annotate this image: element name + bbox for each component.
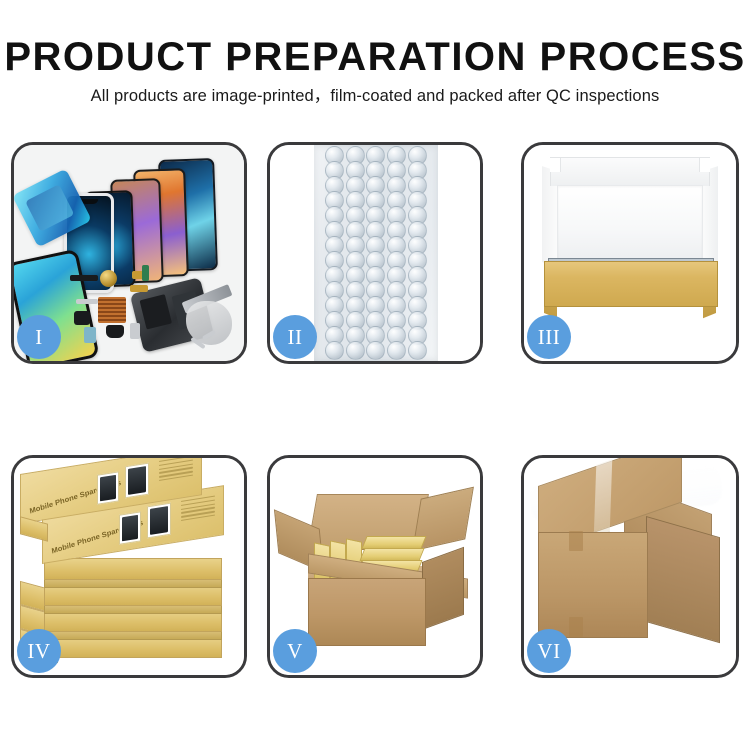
gold-connector-2-part-icon bbox=[130, 285, 148, 292]
step-badge-3: III bbox=[527, 315, 571, 359]
step-badge-1: I bbox=[17, 315, 61, 359]
step-badge-2: II bbox=[273, 315, 317, 359]
process-step-card-3[interactable]: III bbox=[521, 142, 739, 364]
bubble-grid bbox=[324, 148, 428, 358]
carton-tab-lower-icon bbox=[569, 617, 583, 637]
step-badge-4: IV bbox=[17, 629, 61, 673]
box-phone-image-a-icon bbox=[119, 511, 141, 544]
process-step-card-6[interactable]: VI bbox=[521, 455, 739, 678]
bubble-icon bbox=[387, 341, 406, 360]
box-checklist-icon bbox=[181, 496, 215, 524]
box-lid-flap-icon bbox=[550, 157, 710, 186]
carton-front-icon bbox=[538, 532, 648, 638]
carton-side-panel-icon bbox=[422, 547, 464, 630]
bubble-icon bbox=[366, 341, 385, 360]
camera-module-part-icon bbox=[74, 311, 90, 325]
flex-cable-part-icon bbox=[70, 275, 98, 281]
bubble-wrap-sheet-icon bbox=[314, 145, 438, 361]
copper-coil-icon bbox=[100, 270, 117, 287]
step-badge-6: VI bbox=[527, 629, 571, 673]
product-preparation-page: PRODUCT PREPARATION PROCESS All products… bbox=[0, 0, 750, 750]
process-step-card-5[interactable]: V bbox=[267, 455, 483, 678]
speaker-part-icon bbox=[106, 325, 124, 338]
sensor-part-icon bbox=[84, 327, 96, 343]
process-step-card-4[interactable]: Mobile Phone Spare Parts Mobile Phone Sp… bbox=[11, 455, 247, 678]
step-numeral-5: V bbox=[287, 641, 303, 662]
step-numeral-3: III bbox=[538, 327, 560, 348]
step-numeral-2: II bbox=[288, 327, 303, 348]
carton-side-icon bbox=[646, 516, 720, 643]
carton-tab-upper-icon bbox=[569, 531, 583, 551]
packing-tape-icon bbox=[594, 459, 613, 537]
stacked-box-front-icon bbox=[44, 558, 222, 580]
process-step-card-1[interactable]: I bbox=[11, 142, 247, 364]
step-numeral-4: IV bbox=[27, 641, 50, 662]
step-numeral-6: VI bbox=[537, 641, 560, 662]
box-phone-image-a-icon bbox=[97, 471, 119, 504]
step-numeral-1: I bbox=[35, 327, 43, 348]
battery-part-icon bbox=[142, 265, 149, 281]
step-badge-5: V bbox=[273, 629, 317, 673]
box-phone-image-b-icon bbox=[147, 503, 171, 539]
process-step-card-2[interactable]: II bbox=[267, 142, 483, 364]
carton-front-panel-icon bbox=[308, 578, 426, 646]
box-checklist-icon bbox=[159, 458, 193, 484]
foam-sheet-icon bbox=[557, 185, 703, 265]
process-step-grid: I bbox=[0, 0, 750, 750]
chip-array-icon bbox=[98, 297, 126, 323]
bubble-icon bbox=[408, 341, 427, 360]
bubble-icon bbox=[346, 341, 365, 360]
kraft-box-body-icon bbox=[544, 261, 718, 307]
metal-bracket-part-icon bbox=[76, 299, 98, 304]
vibrator-part-icon bbox=[130, 323, 140, 339]
box-phone-image-b-icon bbox=[125, 463, 149, 499]
bubble-icon bbox=[325, 341, 344, 360]
